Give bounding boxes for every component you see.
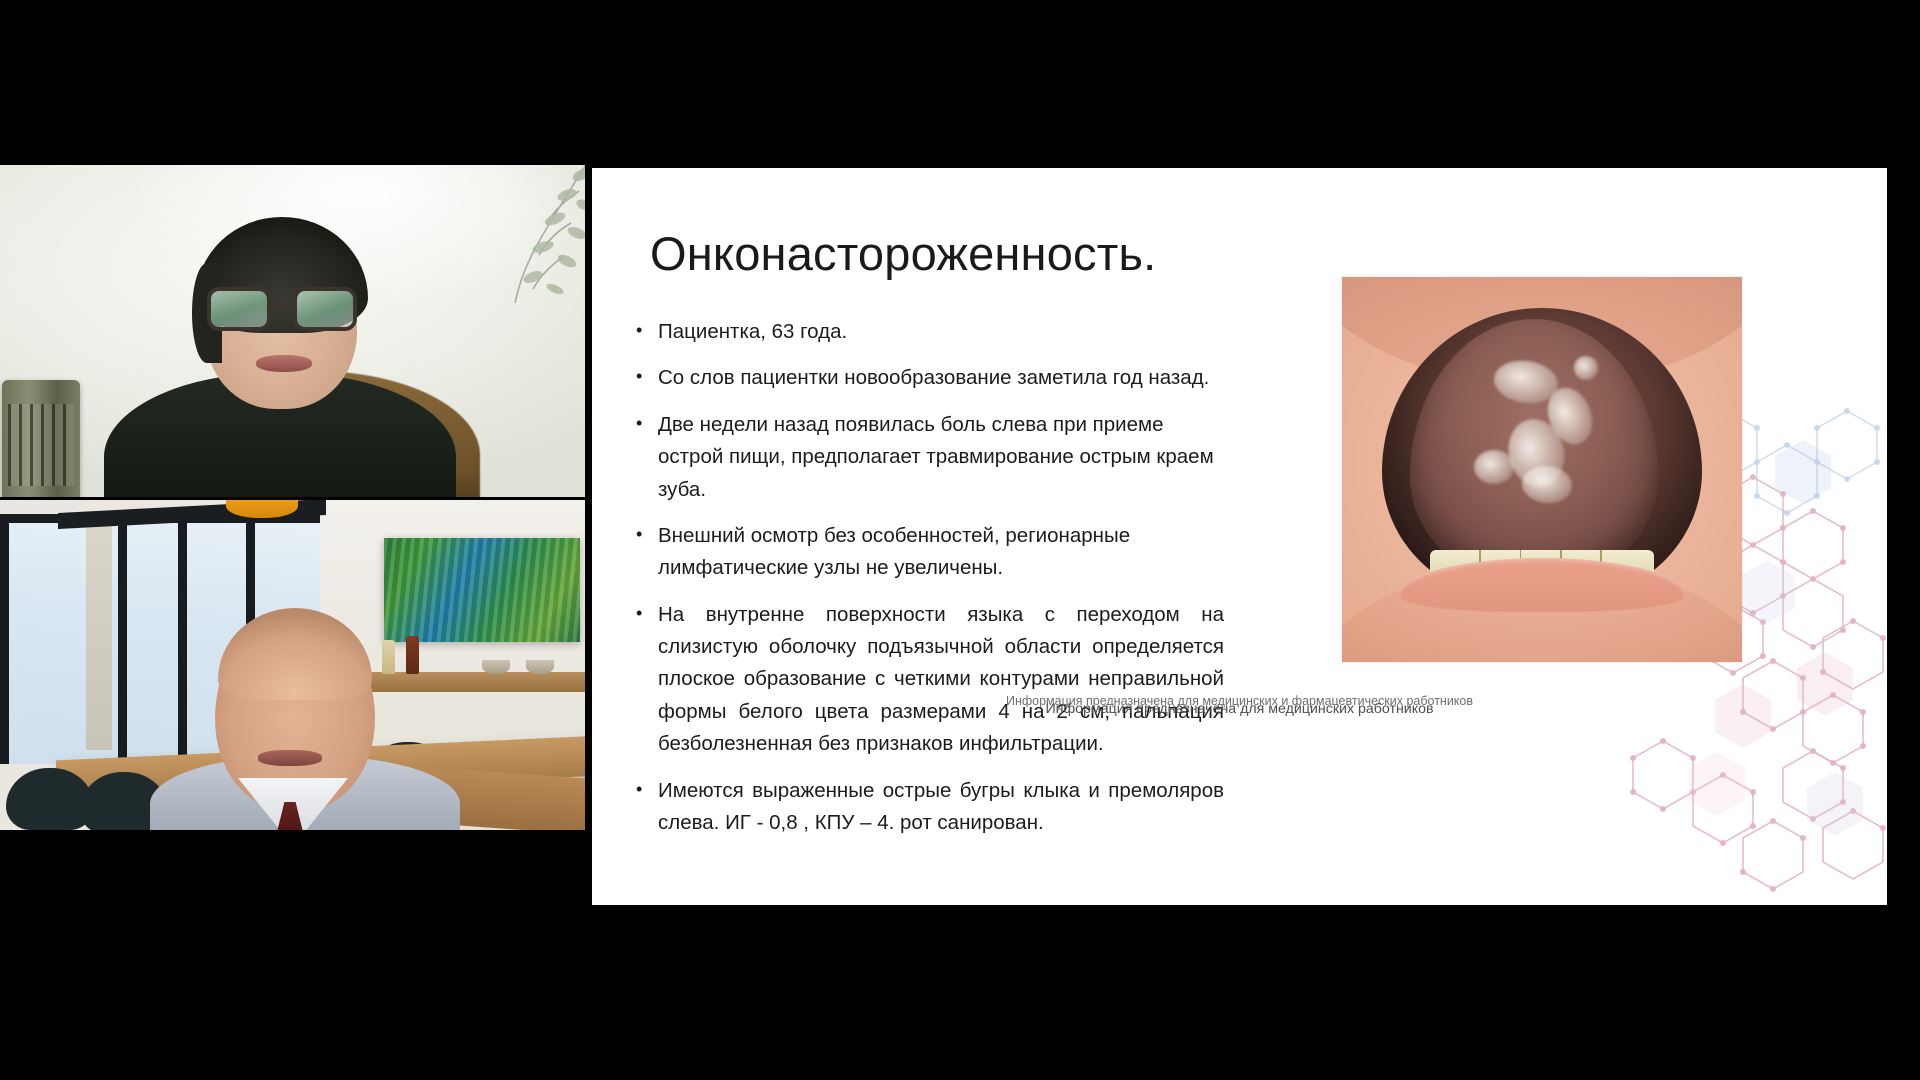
participant-mouth — [256, 355, 312, 372]
radiator — [2, 380, 80, 497]
list-item: • Пациентка, 63 года. — [636, 316, 1224, 348]
bullet-dot: • — [636, 599, 658, 761]
green-painting — [384, 538, 580, 642]
list-item: • Имеются выраженные острые бугры клыка … — [636, 775, 1224, 840]
list-item-label: Со слов пациентки новообразование замети… — [658, 362, 1224, 394]
white-lesion-patch — [1574, 356, 1599, 380]
bullet-dot: • — [636, 520, 658, 585]
bottle — [382, 640, 395, 674]
brick-column — [86, 514, 112, 750]
intraoral-clinical-photograph — [1342, 277, 1742, 662]
list-item: • Со слов пациентки новообразование заме… — [636, 362, 1224, 394]
eyeglasses-icon — [207, 287, 357, 335]
plant-icon — [459, 165, 585, 351]
bowl — [526, 660, 554, 674]
bullet-dot: • — [636, 362, 658, 394]
bullet-dot: • — [636, 409, 658, 506]
bullet-dot: • — [636, 775, 658, 840]
list-item-label: Имеются выраженные острые бугры клыка и … — [658, 775, 1224, 840]
list-item-label: Пациентка, 63 года. — [658, 316, 1224, 348]
bottle — [406, 636, 419, 674]
list-item: • Две недели назад появилась боль слева … — [636, 409, 1224, 506]
list-item: • На внутренне поверхности языка с перех… — [636, 599, 1224, 761]
list-item: • Внешний осмотр без особенностей, регио… — [636, 520, 1224, 585]
video-tile-participant-1[interactable] — [0, 165, 585, 497]
sideboard — [366, 672, 585, 692]
video-tile-participant-2[interactable] — [0, 500, 585, 830]
slide-bullet-list: • Пациентка, 63 года. • Со слов пациентк… — [636, 316, 1224, 853]
bowl — [482, 660, 510, 674]
webinar-screen: Онконастороженность. • Пациентка, 63 год… — [0, 0, 1920, 1080]
disclaimer-footer-secondary: Информация предназначена для медицинских… — [592, 701, 1887, 717]
list-item-label: Внешний осмотр без особенностей, региона… — [658, 520, 1224, 585]
list-item-label: На внутренне поверхности языка с переход… — [658, 599, 1224, 761]
presentation-slide[interactable]: Онконастороженность. • Пациентка, 63 год… — [592, 168, 1887, 905]
bullet-dot: • — [636, 316, 658, 348]
participant-mouth — [258, 750, 322, 766]
list-item-label: Две недели назад появилась боль слева пр… — [658, 409, 1224, 506]
page-title: Онконастороженность. — [650, 226, 1650, 281]
